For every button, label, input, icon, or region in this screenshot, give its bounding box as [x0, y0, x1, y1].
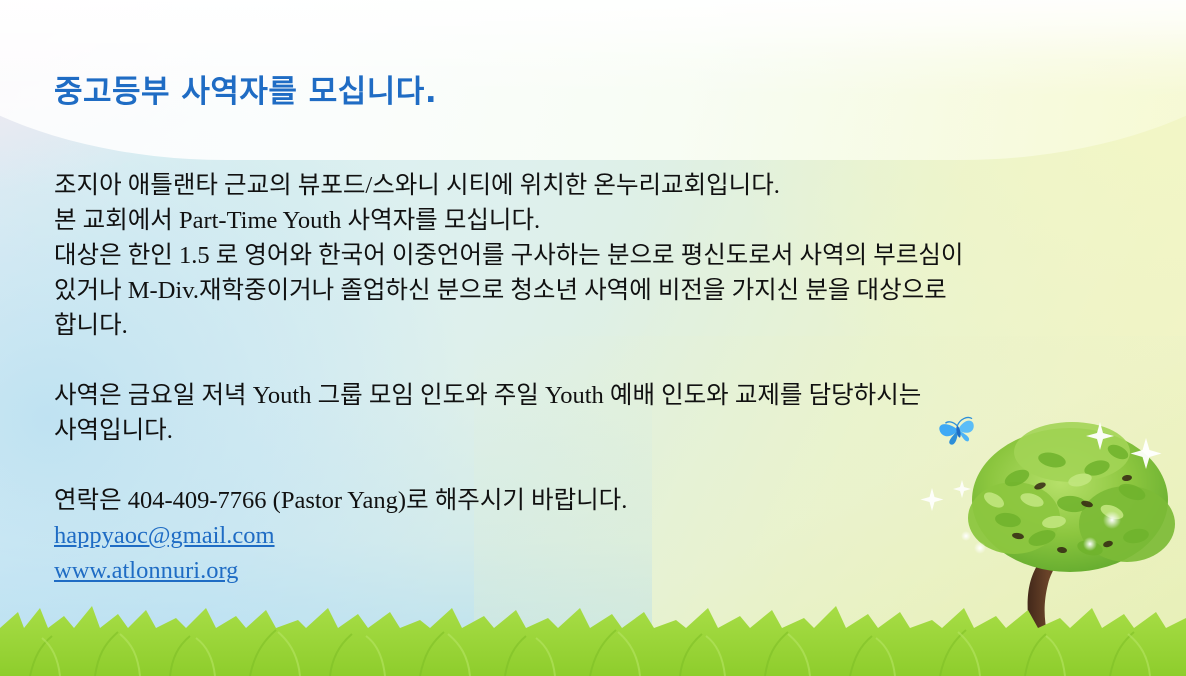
email-link[interactable]: happyaoc@gmail.com [54, 518, 275, 553]
paragraph-duties: 사역은 금요일 저녁 Youth 그룹 모임 인도와 주일 Youth 예배 인… [54, 378, 1114, 448]
intro-line-5: 합니다. [54, 308, 1114, 343]
intro-line-3: 대상은 한인 1.5 로 영어와 한국어 이중언어를 구사하는 분으로 평신도로… [54, 238, 1114, 273]
page-title: 중고등부 사역자를 모십니다. [54, 66, 437, 111]
intro-line-1: 조지아 애틀랜타 근교의 뷰포드/스와니 시티에 위치한 온누리교회입니다. [54, 168, 1114, 203]
contact-email-line: happyaoc@gmail.com [54, 518, 1114, 553]
body-content: 조지아 애틀랜타 근교의 뷰포드/스와니 시티에 위치한 온누리교회입니다. 본… [54, 168, 1114, 588]
paragraph-contact: 연락은 404-409-7766 (Pastor Yang)로 해주시기 바랍니… [54, 483, 1114, 588]
paragraph-intro: 조지아 애틀랜타 근교의 뷰포드/스와니 시티에 위치한 온누리교회입니다. 본… [54, 168, 1114, 343]
duties-line-2: 사역입니다. [54, 413, 1114, 448]
website-link[interactable]: www.atlonnuri.org [54, 553, 238, 588]
duties-line-1: 사역은 금요일 저녁 Youth 그룹 모임 인도와 주일 Youth 예배 인… [54, 378, 1114, 413]
contact-phone-line: 연락은 404-409-7766 (Pastor Yang)로 해주시기 바랍니… [54, 483, 1114, 518]
intro-line-2: 본 교회에서 Part-Time Youth 사역자를 모십니다. [54, 203, 1114, 238]
grass-strip [0, 598, 1186, 676]
slide-canvas: 중고등부 사역자를 모십니다. 조지아 애틀랜타 근교의 뷰포드/스와니 시티에… [0, 0, 1186, 676]
contact-website-line: www.atlonnuri.org [54, 553, 1114, 588]
intro-line-4: 있거나 M-Div.재학중이거나 졸업하신 분으로 청소년 사역에 비전을 가지… [54, 273, 1114, 308]
